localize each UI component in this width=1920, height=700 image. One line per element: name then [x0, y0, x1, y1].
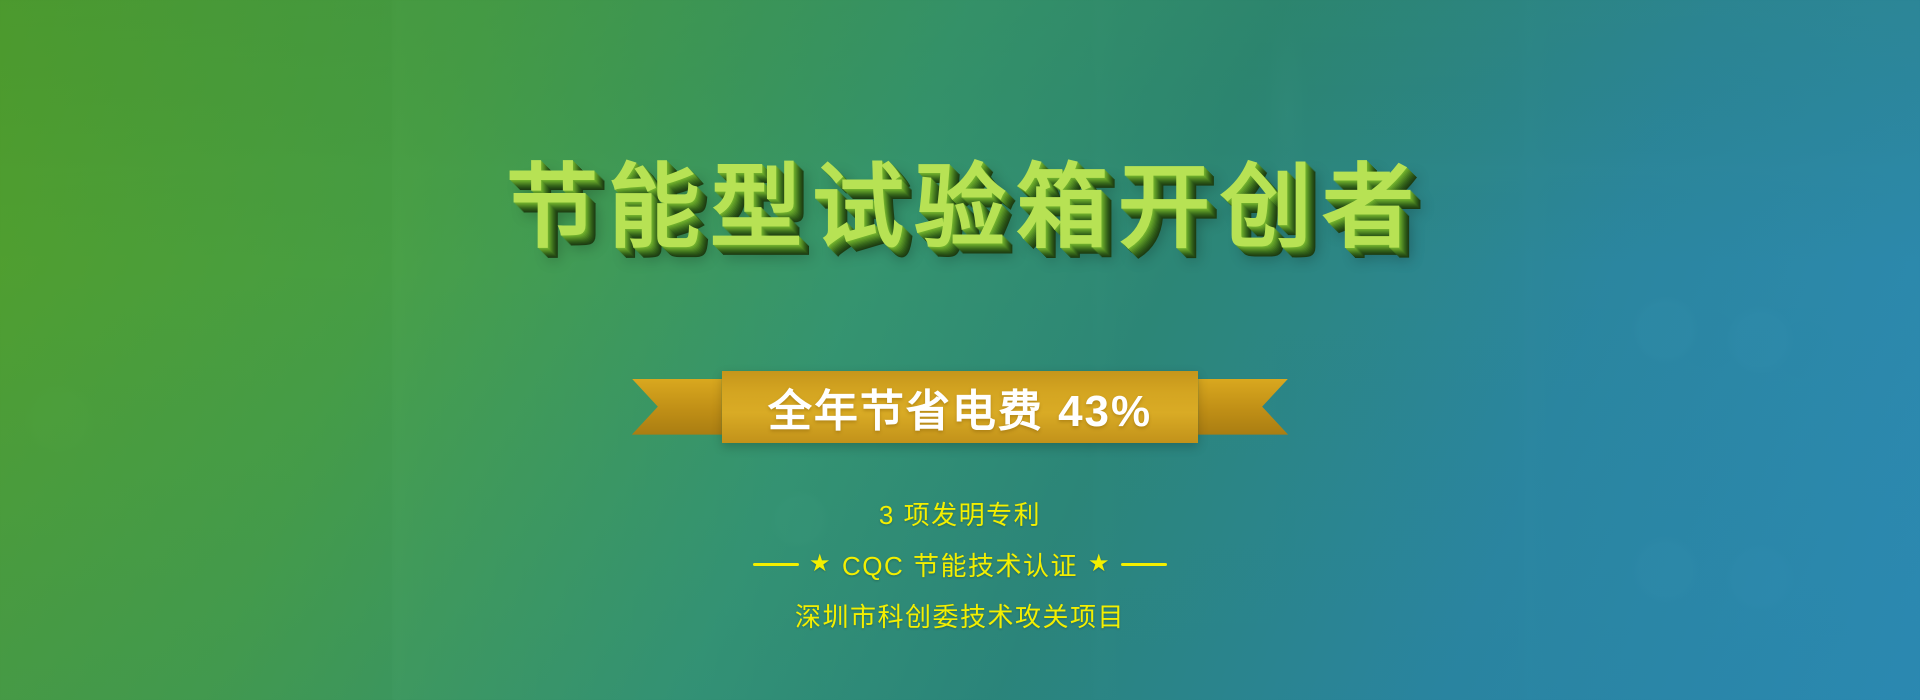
- credential-project-label: 深圳市科创委技术攻关项目: [795, 597, 1125, 634]
- headline-title: 节能型试验箱开创者: [496, 162, 1424, 254]
- rule-left-icon: [753, 563, 799, 566]
- rule-right-icon: [1121, 563, 1167, 566]
- ribbon-tail-left-icon: [632, 379, 722, 435]
- credential-patents: 3 项发明专利: [879, 495, 1041, 532]
- banner-content: 节能型试验箱开创者 全年节省电费 43% 3 项发明专利 ★ CQC 节能技术认…: [0, 0, 1920, 700]
- star-right-icon: ★: [1088, 552, 1111, 576]
- savings-ribbon: 全年节省电费 43%: [722, 371, 1198, 443]
- credential-certification: ★ CQC 节能技术认证 ★: [753, 546, 1167, 583]
- hero-banner: 节能型试验箱开创者 全年节省电费 43% 3 项发明专利 ★ CQC 节能技术认…: [0, 0, 1920, 700]
- credential-certification-label: CQC 节能技术认证: [842, 546, 1078, 583]
- star-left-icon: ★: [809, 552, 832, 576]
- credential-patents-label: 3 项发明专利: [879, 495, 1041, 532]
- credential-project: 深圳市科创委技术攻关项目: [795, 597, 1125, 634]
- ribbon-label: 全年节省电费 43%: [768, 375, 1152, 439]
- credentials-list: 3 项发明专利 ★ CQC 节能技术认证 ★ 深圳市科创委技术攻关项目: [753, 495, 1167, 634]
- ribbon-tail-right-icon: [1198, 379, 1288, 435]
- ribbon-body: 全年节省电费 43%: [722, 371, 1198, 443]
